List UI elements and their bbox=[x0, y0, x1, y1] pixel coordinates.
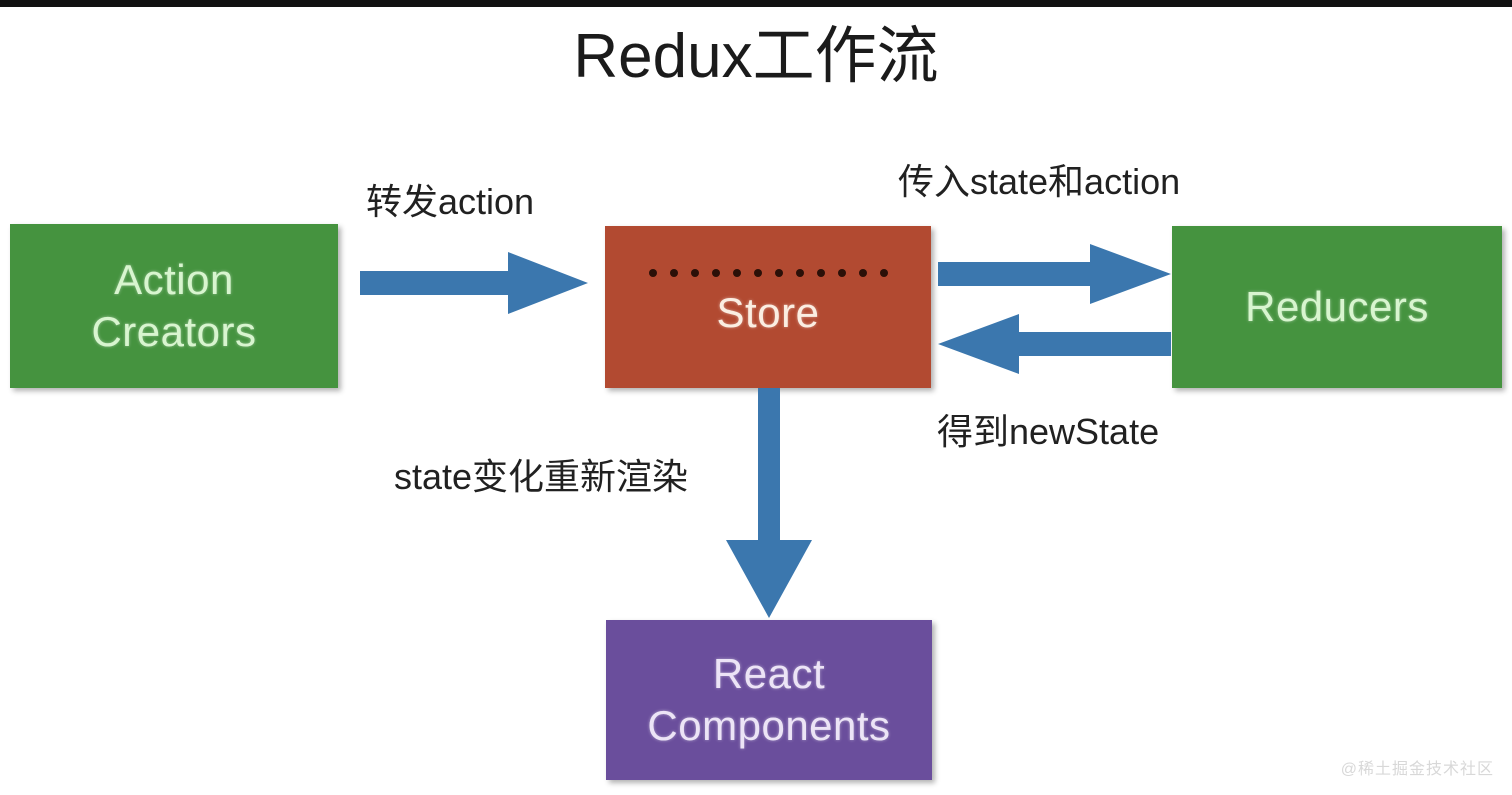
arrow-pass-state-right bbox=[938, 243, 1173, 305]
page-title: Redux工作流 bbox=[0, 18, 1512, 96]
node-action-creators[interactable]: Action Creators bbox=[10, 224, 338, 388]
edge-label-pass-state: 传入state和action bbox=[898, 160, 1180, 204]
store-dot bbox=[712, 269, 720, 277]
edge-label-dispatch: 转发action bbox=[366, 180, 534, 224]
node-react-components[interactable]: React Components bbox=[606, 620, 932, 780]
node-reducers[interactable]: Reducers bbox=[1172, 226, 1502, 388]
store-dot bbox=[775, 269, 783, 277]
store-dot bbox=[670, 269, 678, 277]
store-dot bbox=[880, 269, 888, 277]
store-dot bbox=[817, 269, 825, 277]
store-dotted-separator bbox=[649, 269, 888, 277]
edge-label-rerender: state变化重新渲染 bbox=[394, 455, 688, 499]
top-black-bar bbox=[0, 0, 1512, 7]
node-store-label: Store bbox=[717, 287, 820, 339]
node-action-creators-label-line1: Action bbox=[114, 254, 234, 306]
store-dot bbox=[859, 269, 867, 277]
arrow-dispatch-right bbox=[360, 250, 590, 316]
node-react-components-label-line2: Components bbox=[647, 700, 890, 752]
store-dot bbox=[796, 269, 804, 277]
node-react-components-label-line1: React bbox=[713, 648, 825, 700]
watermark: @稀土掘金技术社区 bbox=[1341, 759, 1494, 781]
node-action-creators-label-line2: Creators bbox=[91, 306, 256, 358]
node-store[interactable]: Store bbox=[605, 226, 931, 388]
edge-label-new-state: 得到newState bbox=[937, 410, 1159, 454]
arrow-new-state-left bbox=[938, 313, 1173, 375]
diagram-canvas: Redux工作流 Action Creators Store Reducers … bbox=[0, 0, 1512, 795]
store-dot bbox=[754, 269, 762, 277]
node-reducers-label: Reducers bbox=[1245, 281, 1429, 333]
store-dot bbox=[733, 269, 741, 277]
store-dot bbox=[649, 269, 657, 277]
store-dot bbox=[691, 269, 699, 277]
store-dot bbox=[838, 269, 846, 277]
arrow-rerender-down bbox=[722, 388, 818, 620]
